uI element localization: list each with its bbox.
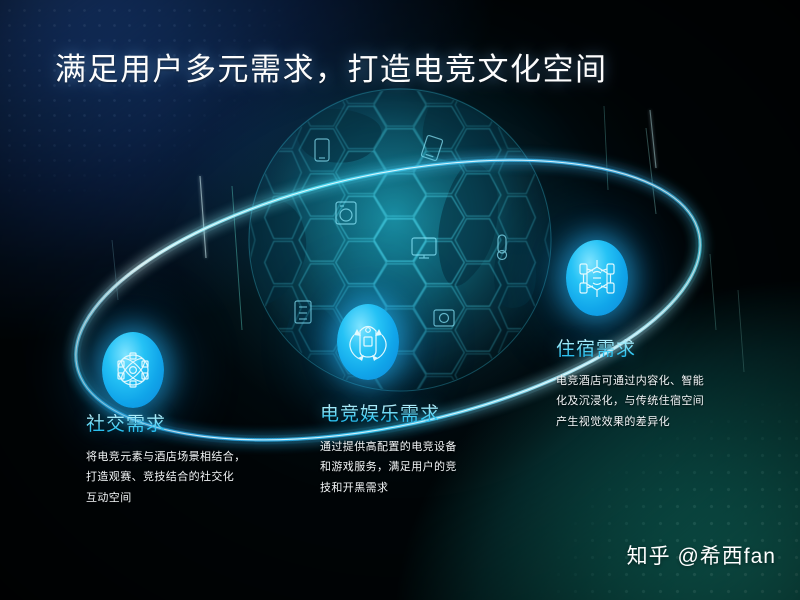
slide-canvas: 满足用户多元需求，打造电竞文化空间 社交需求 将电竞元素与酒店场景相结合，打造观… — [0, 0, 800, 600]
game-controller-cycle-icon — [337, 304, 399, 380]
node-label-esports: 电竞娱乐需求 — [320, 399, 440, 426]
node-accommodation-demand[interactable] — [566, 240, 628, 316]
node-label-accommodation: 住宿需求 — [556, 334, 636, 361]
watermark: 知乎 @希西fan — [627, 540, 776, 570]
node-social-demand[interactable] — [102, 332, 164, 408]
node-label-social: 社交需求 — [86, 409, 166, 436]
node-desc-social: 将电竞元素与酒店场景相结合，打造观赛、竞技结合的社交化互动空间 — [86, 447, 286, 508]
node-desc-accommodation: 电竞酒店可通过内容化、智能化及沉浸化，与传统住宿空间产生视觉效果的差异化 — [556, 371, 756, 432]
vignette-overlay — [0, 0, 800, 600]
network-nodes-icon — [102, 332, 164, 408]
hexagon-chip-network-icon — [566, 240, 628, 316]
page-title: 满足用户多元需求，打造电竞文化空间 — [55, 44, 608, 89]
node-esports-entertainment-demand[interactable] — [337, 304, 399, 380]
node-desc-esports: 通过提供高配置的电竞设备和游戏服务，满足用户的竞技和开黑需求 — [320, 437, 510, 498]
